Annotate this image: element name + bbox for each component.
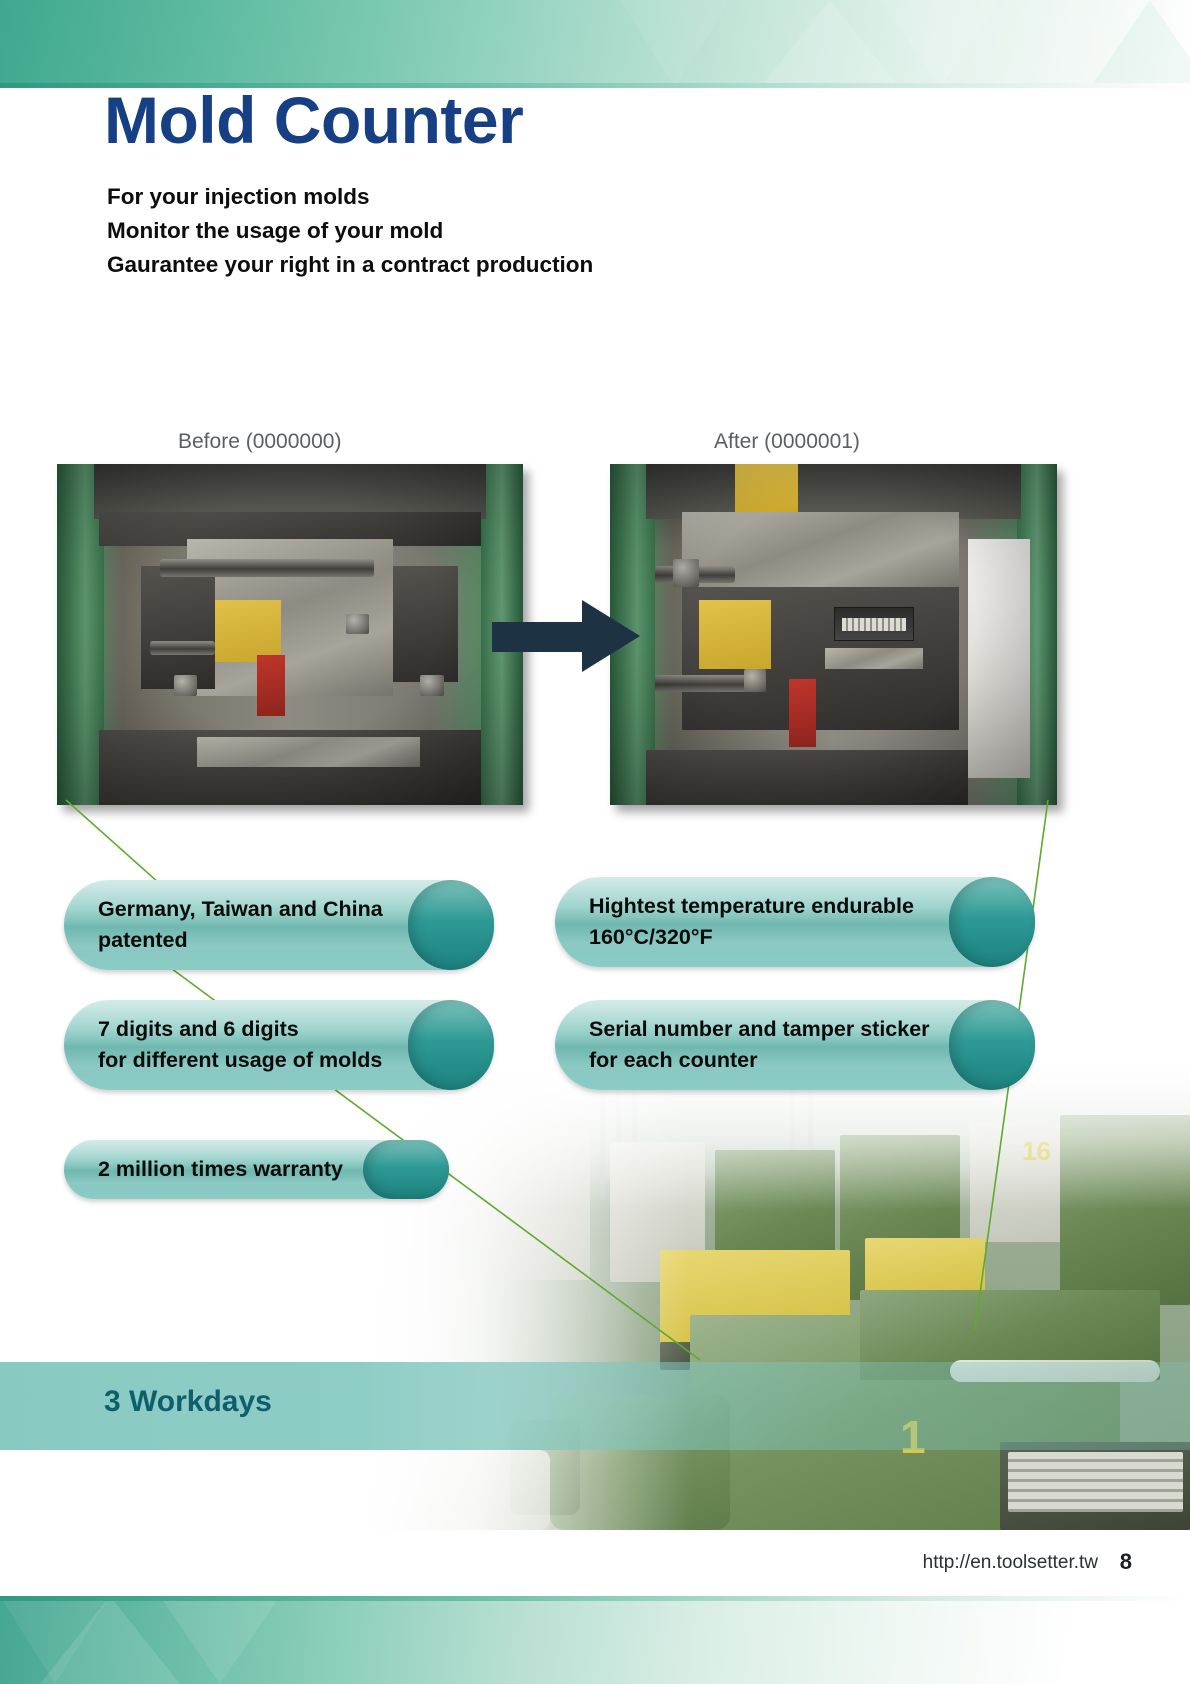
- triangle-decor-5: [1090, 0, 1190, 88]
- page-subtitle: For your injection molds Monitor the usa…: [107, 180, 593, 282]
- callout-text: Hightest temperature endurable 160°C/320…: [589, 891, 914, 953]
- pill-end-cap: [408, 1000, 494, 1090]
- after-photo: [610, 464, 1057, 805]
- right-arrow-icon: [492, 600, 640, 672]
- lead-time-label: 3 Workdays: [104, 1385, 272, 1419]
- factory-left-fade: [360, 1060, 690, 1530]
- footer-edge-line: [0, 1596, 1190, 1601]
- callout-patented[interactable]: Germany, Taiwan and China patented: [64, 880, 494, 970]
- callout-warranty[interactable]: 2 million times warranty: [64, 1140, 449, 1199]
- subtitle-line-1: For your injection molds: [107, 180, 593, 214]
- callout-text: 7 digits and 6 digits for different usag…: [98, 1014, 382, 1076]
- photo-vignette-after: [610, 464, 1057, 805]
- triangle-decor-2: [880, 0, 1000, 88]
- footer-decorative-band: [0, 1596, 1190, 1684]
- subtitle-line-3: Gaurantee your right in a contract produ…: [107, 248, 593, 282]
- subtitle-line-2: Monitor the usage of your mold: [107, 214, 593, 248]
- before-photo-caption: Before (0000000): [178, 430, 341, 454]
- page-title: Mold Counter: [104, 86, 523, 155]
- photo-vignette-before: [57, 464, 523, 805]
- footer-website-url[interactable]: http://en.toolsetter.tw: [923, 1552, 1098, 1574]
- mold-machine-image-before: [57, 464, 523, 805]
- callout-serial-number[interactable]: Serial number and tamper sticker for eac…: [555, 1000, 1035, 1090]
- footer-page-number: 8: [1120, 1549, 1132, 1575]
- pill-end-cap: [949, 1000, 1035, 1090]
- pill-end-cap: [363, 1140, 449, 1199]
- factory-background-photo: 1 16: [360, 1060, 1190, 1530]
- top-decorative-band: [0, 0, 1190, 88]
- pill-end-cap: [408, 880, 494, 970]
- pill-end-cap: [949, 877, 1035, 967]
- arrow-head: [582, 600, 640, 672]
- callout-text: 2 million times warranty: [98, 1154, 343, 1185]
- footer-triangle-2: [160, 1596, 280, 1684]
- callout-digits[interactable]: 7 digits and 6 digits for different usag…: [64, 1000, 494, 1090]
- before-photo: [57, 464, 523, 805]
- factory-cabinet-vents: [1008, 1452, 1183, 1512]
- after-photo-caption: After (0000001): [714, 430, 860, 454]
- brochure-page: Mold Counter For your injection molds Mo…: [0, 0, 1190, 1684]
- triangle-decor-1: [760, 0, 900, 88]
- callout-text: Germany, Taiwan and China patented: [98, 894, 383, 956]
- arrow-shaft: [492, 622, 588, 652]
- mold-machine-image-after: [610, 464, 1057, 805]
- callout-text: Serial number and tamper sticker for eac…: [589, 1014, 930, 1076]
- footer-triangle-1: [40, 1596, 180, 1684]
- callout-temperature[interactable]: Hightest temperature endurable 160°C/320…: [555, 877, 1035, 967]
- triangle-decor-4: [620, 0, 730, 88]
